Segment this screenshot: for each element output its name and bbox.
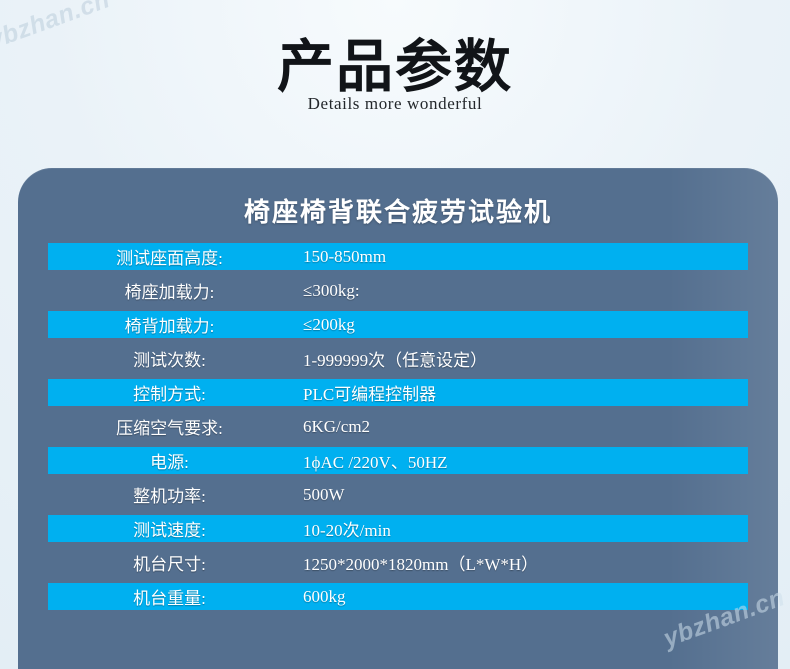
spec-panel: 椅座椅背联合疲劳试验机 测试座面高度:150-850mm椅座加载力:≤300kg… (18, 168, 778, 669)
spec-label: 测试速度: (48, 516, 303, 541)
spec-label: 测试次数: (48, 346, 303, 371)
spec-label: 控制方式: (48, 380, 303, 405)
page-subtitle: Details more wonderful (0, 94, 790, 114)
spec-value: 150-850mm (303, 247, 748, 267)
spec-value: PLC可编程控制器 (303, 380, 748, 405)
spec-value: 10-20次/min (303, 516, 748, 541)
spec-label: 整机功率: (48, 482, 303, 507)
spec-row: 测试座面高度:150-850mm (48, 243, 748, 270)
spec-row: 机台尺寸:1250*2000*1820mm（L*W*H） (48, 549, 748, 576)
page-title: 产品参数 (0, 38, 790, 98)
spec-label: 测试座面高度: (48, 244, 303, 269)
spec-row: 测试次数:1-999999次（任意设定） (48, 345, 748, 372)
spec-row: 压缩空气要求:6KG/cm2 (48, 413, 748, 440)
spec-value: 1-999999次（任意设定） (303, 346, 748, 371)
page-heading: 产品参数 Details more wonderful (0, 38, 790, 114)
spec-label: 机台尺寸: (48, 550, 303, 575)
spec-label: 压缩空气要求: (48, 414, 303, 439)
spec-label: 电源: (48, 448, 303, 473)
spec-panel-title: 椅座椅背联合疲劳试验机 (18, 168, 778, 243)
spec-label: 椅背加载力: (48, 312, 303, 337)
spec-value: 6KG/cm2 (303, 417, 748, 437)
spec-label: 椅座加载力: (48, 278, 303, 303)
spec-row: 电源:1ϕAC /220V、50HZ (48, 447, 748, 474)
spec-value: 1250*2000*1820mm（L*W*H） (303, 550, 748, 575)
spec-value: 600kg (303, 587, 748, 607)
spec-table: 测试座面高度:150-850mm椅座加载力:≤300kg:椅背加载力:≤200k… (18, 243, 778, 610)
spec-row: 椅座加载力:≤300kg: (48, 277, 748, 304)
spec-label: 机台重量: (48, 584, 303, 609)
spec-row: 整机功率:500W (48, 481, 748, 508)
spec-value: 500W (303, 485, 748, 505)
spec-value: ≤200kg (303, 315, 748, 335)
spec-value: ≤300kg: (303, 281, 748, 301)
spec-value: 1ϕAC /220V、50HZ (303, 448, 748, 473)
spec-row: 控制方式:PLC可编程控制器 (48, 379, 748, 406)
spec-row: 测试速度:10-20次/min (48, 515, 748, 542)
spec-row: 椅背加载力:≤200kg (48, 311, 748, 338)
spec-row: 机台重量:600kg (48, 583, 748, 610)
